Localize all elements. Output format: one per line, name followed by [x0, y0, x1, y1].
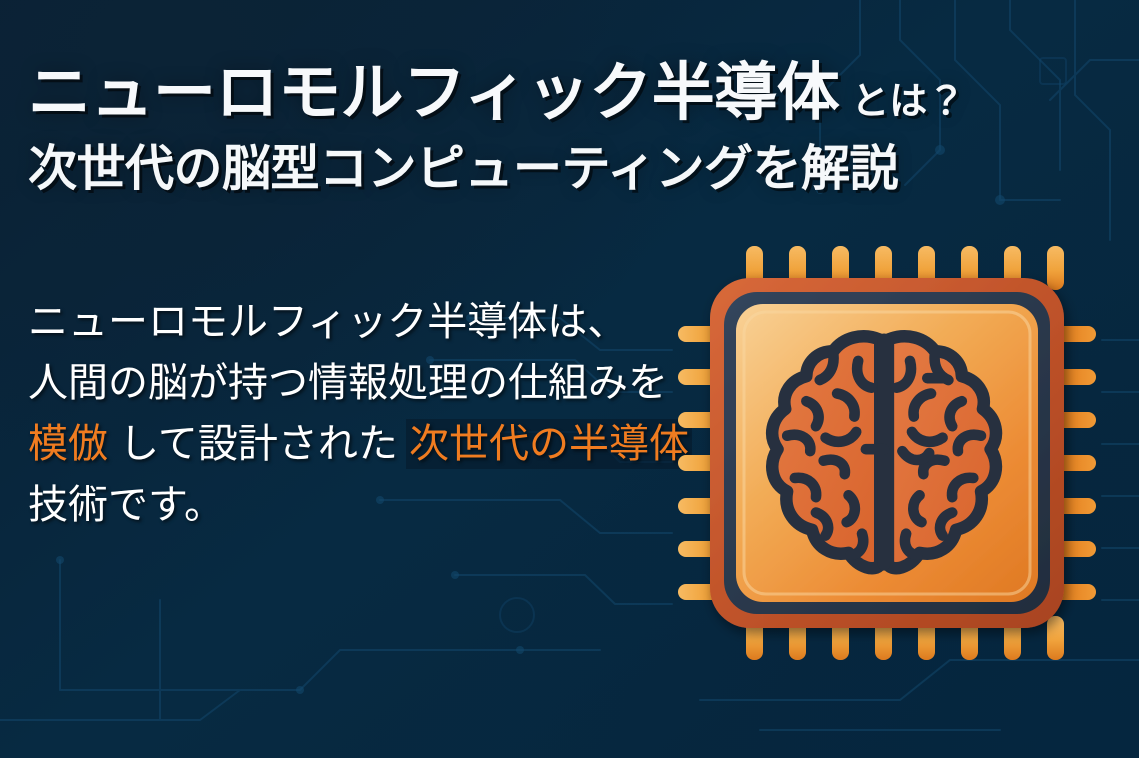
- title-suffix-text: とは？: [851, 83, 965, 121]
- headline-block: ニューロモルフィック半導体 とは？ 次世代の脳型コンピューティングを解説: [28, 62, 1128, 194]
- body-segment: ニューロモルフィック半導体は、: [28, 300, 627, 344]
- body-segment: して設計された: [108, 422, 409, 466]
- page-subtitle: 次世代の脳型コンピューティングを解説: [28, 145, 1128, 194]
- brain-icon: [772, 336, 996, 568]
- body-line: 模倣 して設計された 次世代の半導体: [28, 414, 688, 475]
- body-segment-emphasis: 模倣: [28, 422, 108, 466]
- page-title: ニューロモルフィック半導体 とは？: [28, 62, 1128, 125]
- cpu-chip-icon: [672, 238, 1102, 668]
- body-copy: ニューロモルフィック半導体は、 人間の脳が持つ情報処理の仕組みを 模倣 して設計…: [28, 292, 688, 536]
- body-segment: 技術です。: [28, 483, 224, 527]
- title-main-text: ニューロモルフィック半導体: [28, 62, 839, 125]
- body-line: ニューロモルフィック半導体は、: [28, 292, 688, 353]
- body-line: 人間の脳が持つ情報処理の仕組みを: [28, 353, 688, 414]
- body-line: 技術です。: [28, 475, 688, 536]
- hero-banner: ニューロモルフィック半導体 とは？ 次世代の脳型コンピューティングを解説 ニュー…: [0, 0, 1139, 758]
- body-segment: 人間の脳が持つ情報処理の仕組みを: [28, 361, 668, 405]
- body-segment-emphasis-highlight: 次世代の半導体: [409, 422, 689, 466]
